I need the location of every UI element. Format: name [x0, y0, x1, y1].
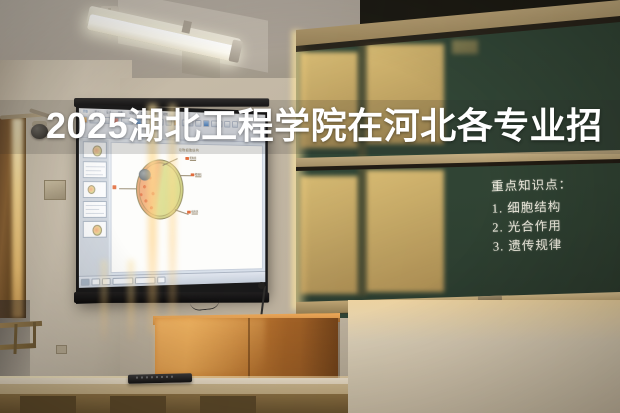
blackboard-heading: 重点知识点：	[491, 174, 611, 196]
microphone-icon	[258, 282, 265, 289]
remote-control[interactable]	[128, 373, 192, 384]
page-title: 2025湖北工程学院在河北各专业招	[46, 104, 606, 148]
blackboard-item-3: 3. 遗传规律	[493, 234, 613, 256]
slide-canvas: 动物细胞结构 细胞膜 细胞核	[111, 142, 263, 273]
start-button[interactable]	[81, 279, 90, 286]
taskbar-window-button[interactable]	[113, 277, 134, 284]
callout-cytoplasm	[113, 185, 116, 189]
wall-control-plate	[44, 180, 66, 200]
slide-thumbnail[interactable]	[82, 221, 106, 238]
callout-mitochondria: 线粒体	[187, 210, 198, 215]
projector-screen-bottom-bar	[74, 292, 269, 303]
classroom-photo: 重点知识点： 1. 细胞结构 2. 光合作用 3. 遗传规律 开始 插入 设计	[0, 0, 620, 413]
callout-nucleus: 细胞核	[191, 172, 202, 177]
blackboard-writing: 重点知识点： 1. 细胞结构 2. 光合作用 3. 遗传规律	[491, 174, 613, 256]
taskbar-icon[interactable]	[157, 277, 165, 284]
callout-marker	[113, 185, 116, 189]
taskbar-icon[interactable]	[102, 278, 111, 285]
callout-label: 细胞核	[195, 172, 202, 177]
callout-marker	[185, 157, 188, 161]
desk-panel	[200, 396, 256, 413]
slide-thumbnail[interactable]	[82, 201, 106, 218]
desk-panel	[20, 396, 76, 413]
taskbar-icon[interactable]	[91, 278, 100, 285]
slide-thumbnail[interactable]	[82, 181, 106, 198]
callout-label: 细胞膜	[189, 156, 196, 161]
bench-leg	[33, 322, 36, 348]
slide-thumbnail-panel[interactable]	[80, 139, 109, 276]
desk-panel	[110, 396, 166, 413]
cell-nucleus	[139, 169, 151, 181]
window-light-shaft	[12, 118, 23, 318]
wall-below-blackboard	[348, 300, 620, 413]
callout-leader	[119, 188, 136, 189]
slide-thumbnail[interactable]	[82, 161, 106, 178]
callout-label: 线粒体	[191, 210, 198, 215]
callout-marker	[191, 173, 194, 176]
taskbar-window-button[interactable]	[135, 277, 155, 284]
callout-marker	[187, 211, 190, 214]
callout-cell-membrane: 细胞膜	[185, 156, 196, 161]
wall-socket	[56, 345, 67, 354]
